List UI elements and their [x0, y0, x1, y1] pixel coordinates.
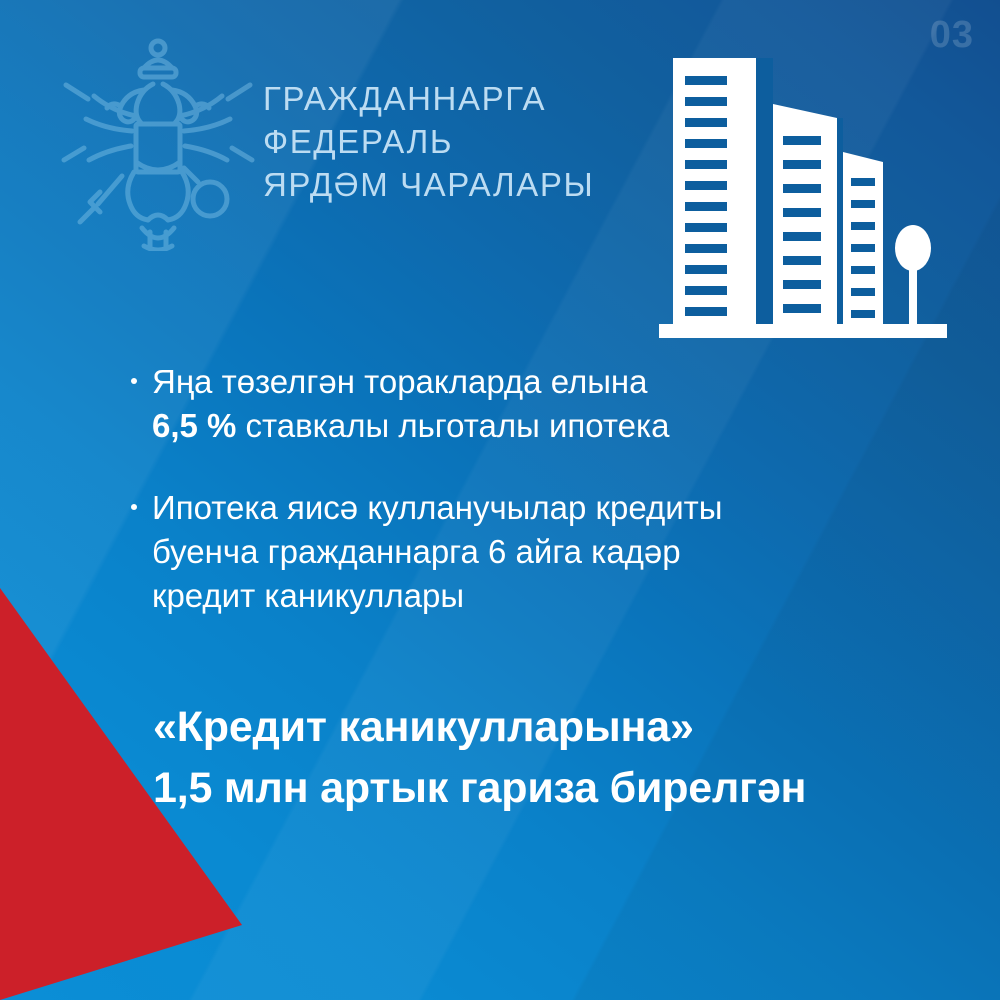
headline: «Кредит каникулларына» 1,5 млн артык гар… — [153, 697, 973, 819]
page-number: 03 — [930, 16, 974, 54]
list-item-text: Яңа төзелгән торакларда елына 6,5 % став… — [152, 360, 938, 448]
list-item-text: Ипотека яисә кулланучылар кредиты буенча… — [152, 486, 938, 618]
list-item-text-before: Яңа төзелгән торакларда елына — [152, 363, 648, 400]
russian-federation-eagle-emblem-icon — [58, 36, 258, 251]
bullet-dot-icon — [131, 378, 137, 384]
bullet-dot-icon — [131, 504, 137, 510]
list-item-emphasis: 6,5 % — [152, 407, 236, 444]
page-title: ГРАЖДАННАРГА ФЕДЕРАЛЬ ЯРДӘМ ЧАРАЛАРЫ — [263, 78, 594, 207]
list-item: Яңа төзелгән торакларда елына 6,5 % став… — [128, 360, 938, 448]
infographic-slide: 03 — [0, 0, 1000, 1000]
list-item-text-after: ставкалы льготалы ипотека — [236, 407, 669, 444]
city-buildings-icon — [655, 52, 960, 340]
